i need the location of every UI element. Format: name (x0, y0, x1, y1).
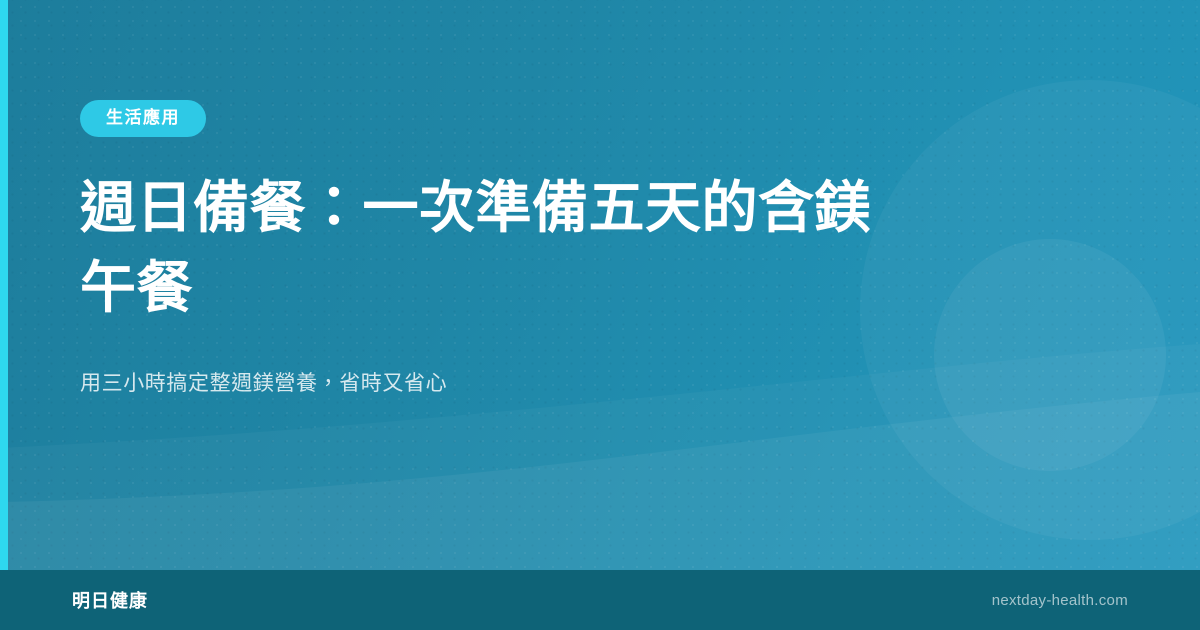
decorative-circle-inner (934, 239, 1166, 471)
category-badge[interactable]: 生活應用 (80, 100, 206, 137)
footer-brand-name: 明日健康 (72, 587, 148, 613)
social-share-card: 生活應用 週日備餐：一次準備五天的含鎂午餐 用三小時搞定整週鎂營養，省時又省心 … (0, 0, 1200, 630)
footer-domain: nextday-health.com (992, 592, 1128, 609)
left-edge-accent-bar (0, 0, 8, 570)
card-footer: 明日健康 nextday-health.com (0, 570, 1200, 630)
page-subtitle: 用三小時搞定整週鎂營養，省時又省心 (80, 368, 960, 400)
card-content: 生活應用 週日備餐：一次準備五天的含鎂午餐 用三小時搞定整週鎂營養，省時又省心 (80, 0, 960, 400)
wave-lower (0, 392, 1200, 570)
page-title: 週日備餐：一次準備五天的含鎂午餐 (80, 168, 910, 328)
